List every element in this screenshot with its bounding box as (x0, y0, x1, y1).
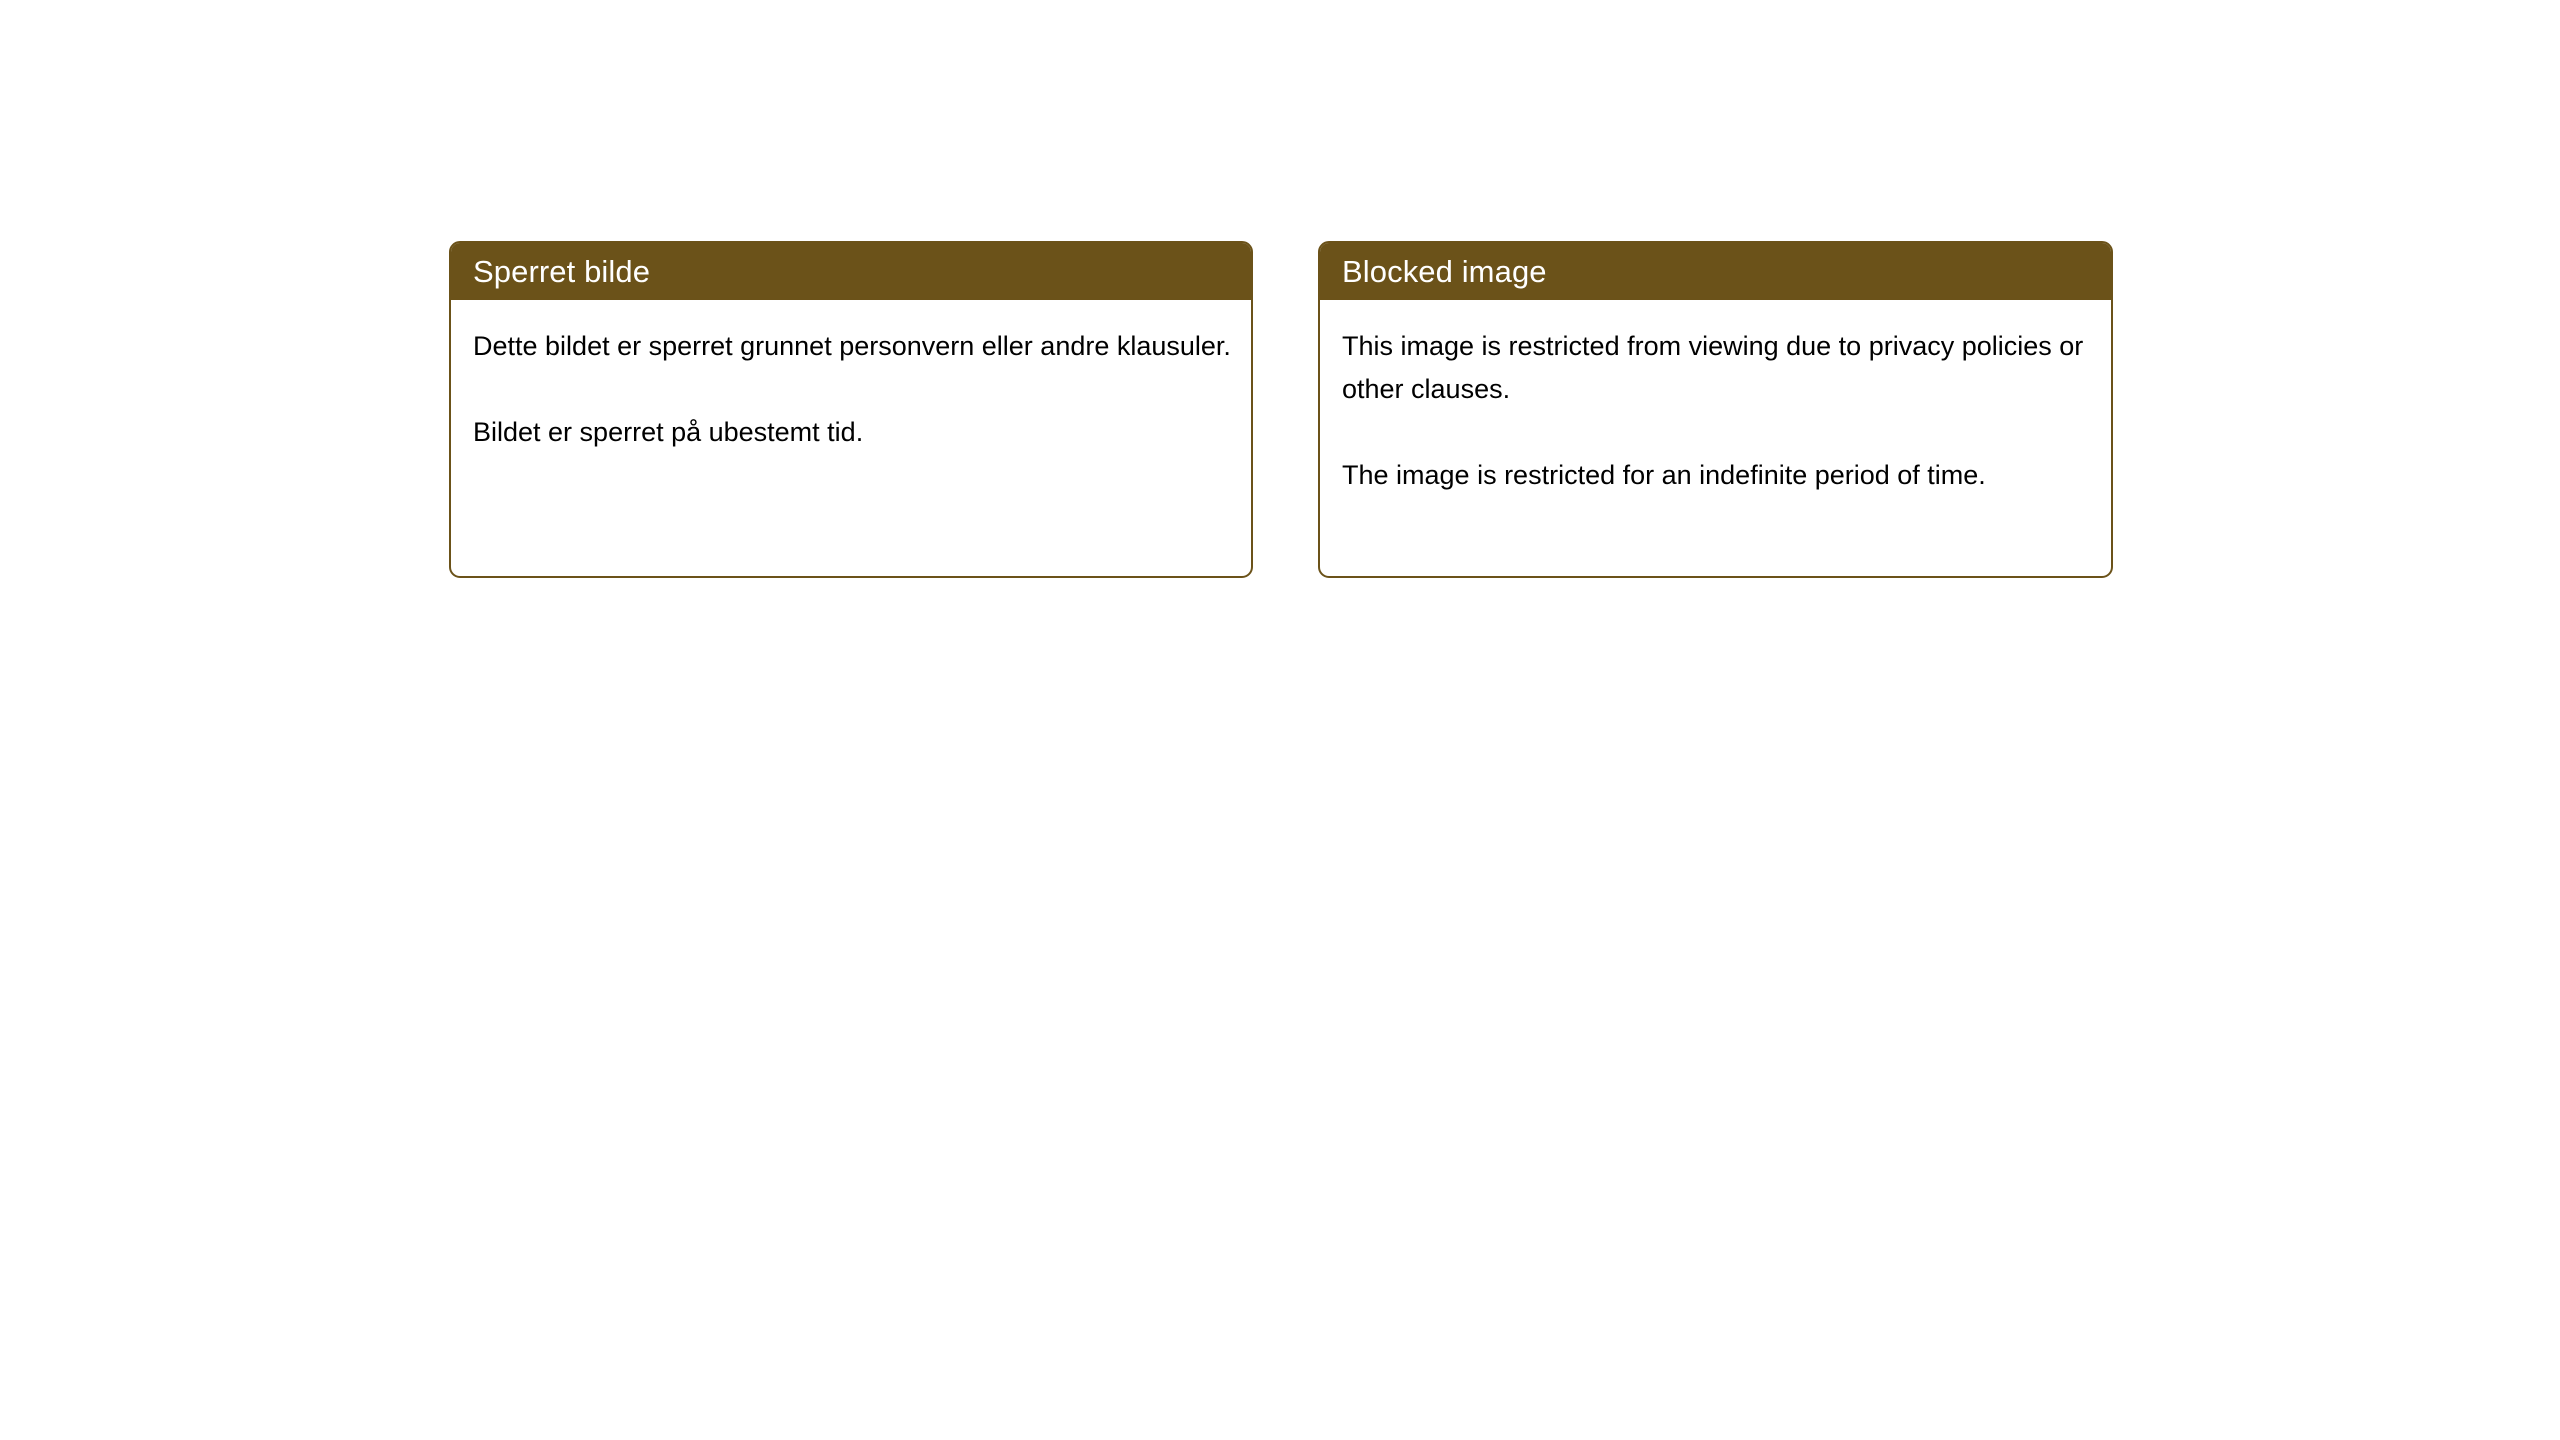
panel-body-no: Dette bildet er sperret grunnet personve… (451, 300, 1251, 454)
panel-header-en: Blocked image (1320, 243, 2111, 300)
panel-title-en: Blocked image (1342, 256, 1547, 287)
panel-paragraph-en-2: The image is restricted for an indefinit… (1342, 454, 2091, 497)
panel-title-no: Sperret bilde (473, 256, 650, 287)
blocked-image-panel-en: Blocked image This image is restricted f… (1318, 241, 2113, 578)
panel-paragraph-no-1: Dette bildet er sperret grunnet personve… (473, 325, 1231, 368)
panel-paragraph-no-2: Bildet er sperret på ubestemt tid. (473, 411, 1231, 454)
page-canvas: Sperret bilde Dette bildet er sperret gr… (0, 0, 2560, 1440)
panel-body-en: This image is restricted from viewing du… (1320, 300, 2111, 497)
blocked-image-panel-no: Sperret bilde Dette bildet er sperret gr… (449, 241, 1253, 578)
panel-header-no: Sperret bilde (451, 243, 1251, 300)
panel-paragraph-en-1: This image is restricted from viewing du… (1342, 325, 2091, 411)
